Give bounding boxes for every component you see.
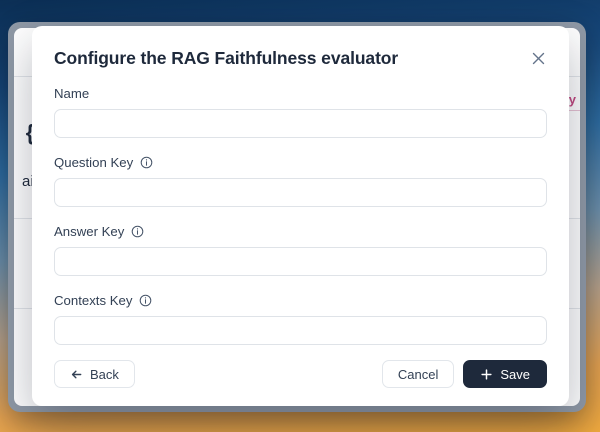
contexts-key-input[interactable] <box>54 316 547 345</box>
field-name: Name <box>54 85 547 138</box>
dialog-footer: Back Cancel Save <box>54 360 547 388</box>
desktop-backdrop: {· ai rity Configure the RAG Faithfulnes… <box>0 0 600 432</box>
save-button-label: Save <box>500 367 530 382</box>
field-label-row: Answer Key <box>54 223 547 240</box>
field-question-key: Question Key <box>54 154 547 207</box>
footer-actions: Cancel Save <box>382 360 547 388</box>
dialog-title: Configure the RAG Faithfulness evaluator <box>54 48 398 69</box>
field-label: Contexts Key <box>54 294 132 307</box>
cancel-button-label: Cancel <box>398 367 438 382</box>
save-button[interactable]: Save <box>463 360 547 388</box>
field-label: Answer Key <box>54 225 124 238</box>
info-icon[interactable] <box>140 156 153 169</box>
answer-key-input[interactable] <box>54 247 547 276</box>
cancel-button[interactable]: Cancel <box>382 360 454 388</box>
back-button-label: Back <box>90 367 119 382</box>
evaluator-config-form: Name Question Key <box>54 85 547 345</box>
field-label: Question Key <box>54 156 133 169</box>
info-icon[interactable] <box>131 225 144 238</box>
field-contexts-key: Contexts Key <box>54 292 547 345</box>
close-icon[interactable] <box>527 47 549 69</box>
back-button[interactable]: Back <box>54 360 135 388</box>
question-key-input[interactable] <box>54 178 547 207</box>
configure-evaluator-dialog: Configure the RAG Faithfulness evaluator… <box>32 26 569 406</box>
dialog-header: Configure the RAG Faithfulness evaluator <box>54 48 547 69</box>
field-label-row: Question Key <box>54 154 547 171</box>
field-label: Name <box>54 87 89 100</box>
field-label-row: Contexts Key <box>54 292 547 309</box>
plus-icon <box>480 368 493 381</box>
arrow-left-icon <box>70 368 83 381</box>
field-label-row: Name <box>54 85 547 102</box>
info-icon[interactable] <box>139 294 152 307</box>
name-input[interactable] <box>54 109 547 138</box>
field-answer-key: Answer Key <box>54 223 547 276</box>
